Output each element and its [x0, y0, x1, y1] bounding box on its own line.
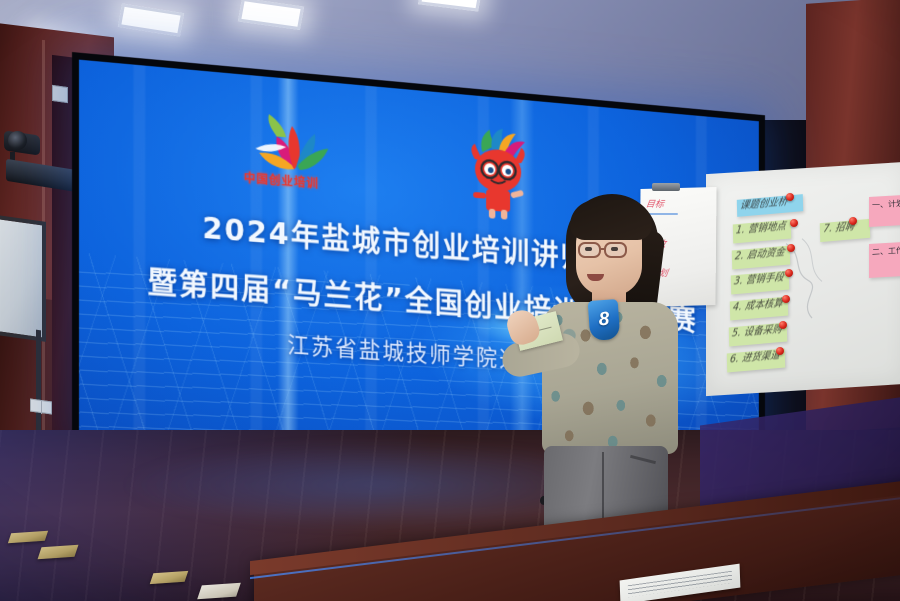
pin-icon-7	[849, 217, 857, 225]
sticky-note-3-text: 3. 营销手段	[733, 273, 784, 288]
sticky-note-1-text: 1. 营销地点	[735, 222, 786, 237]
pin-icon-6	[776, 347, 784, 355]
sticky-note-header-text: 课题创业桥	[739, 198, 788, 213]
mobile-whiteboard	[0, 214, 46, 342]
sticky-note-5-text: 5. 设备采购	[731, 325, 782, 340]
sticky-note-7-text: 7. 招聘	[823, 222, 855, 236]
classroom-scene: 中国创业培训	[0, 0, 900, 601]
sticky-note-2-text: 2. 启动资金	[734, 248, 785, 263]
pin-icon-1	[790, 219, 798, 227]
sticky-note-4-text: 4. 成本核算	[732, 299, 783, 314]
pin-icon-5	[779, 321, 787, 329]
glasses-bridge	[600, 248, 606, 250]
wall-plate	[52, 85, 68, 103]
glasses-lens-right-icon	[604, 242, 627, 258]
presenter-fringe	[570, 200, 652, 240]
sticky-note-6-text: 6. 进货渠道	[729, 351, 780, 366]
glasses-lens-left-icon	[578, 242, 601, 258]
pin-icon-4	[782, 295, 790, 303]
pink-note-1-text: 一、计划	[872, 199, 900, 210]
pin-icon-header	[786, 193, 794, 201]
contestant-badge-number: 8	[598, 309, 610, 332]
pin-icon-3	[785, 269, 793, 277]
pink-note-1[interactable]: 一、计划	[869, 195, 900, 227]
pink-note-2-text: 二、工作	[872, 246, 900, 257]
pin-icon-2	[787, 244, 795, 252]
camera-lens-icon	[8, 131, 27, 150]
pink-note-2[interactable]: 二、工作	[869, 242, 900, 278]
contestant-badge: 8	[588, 299, 621, 341]
